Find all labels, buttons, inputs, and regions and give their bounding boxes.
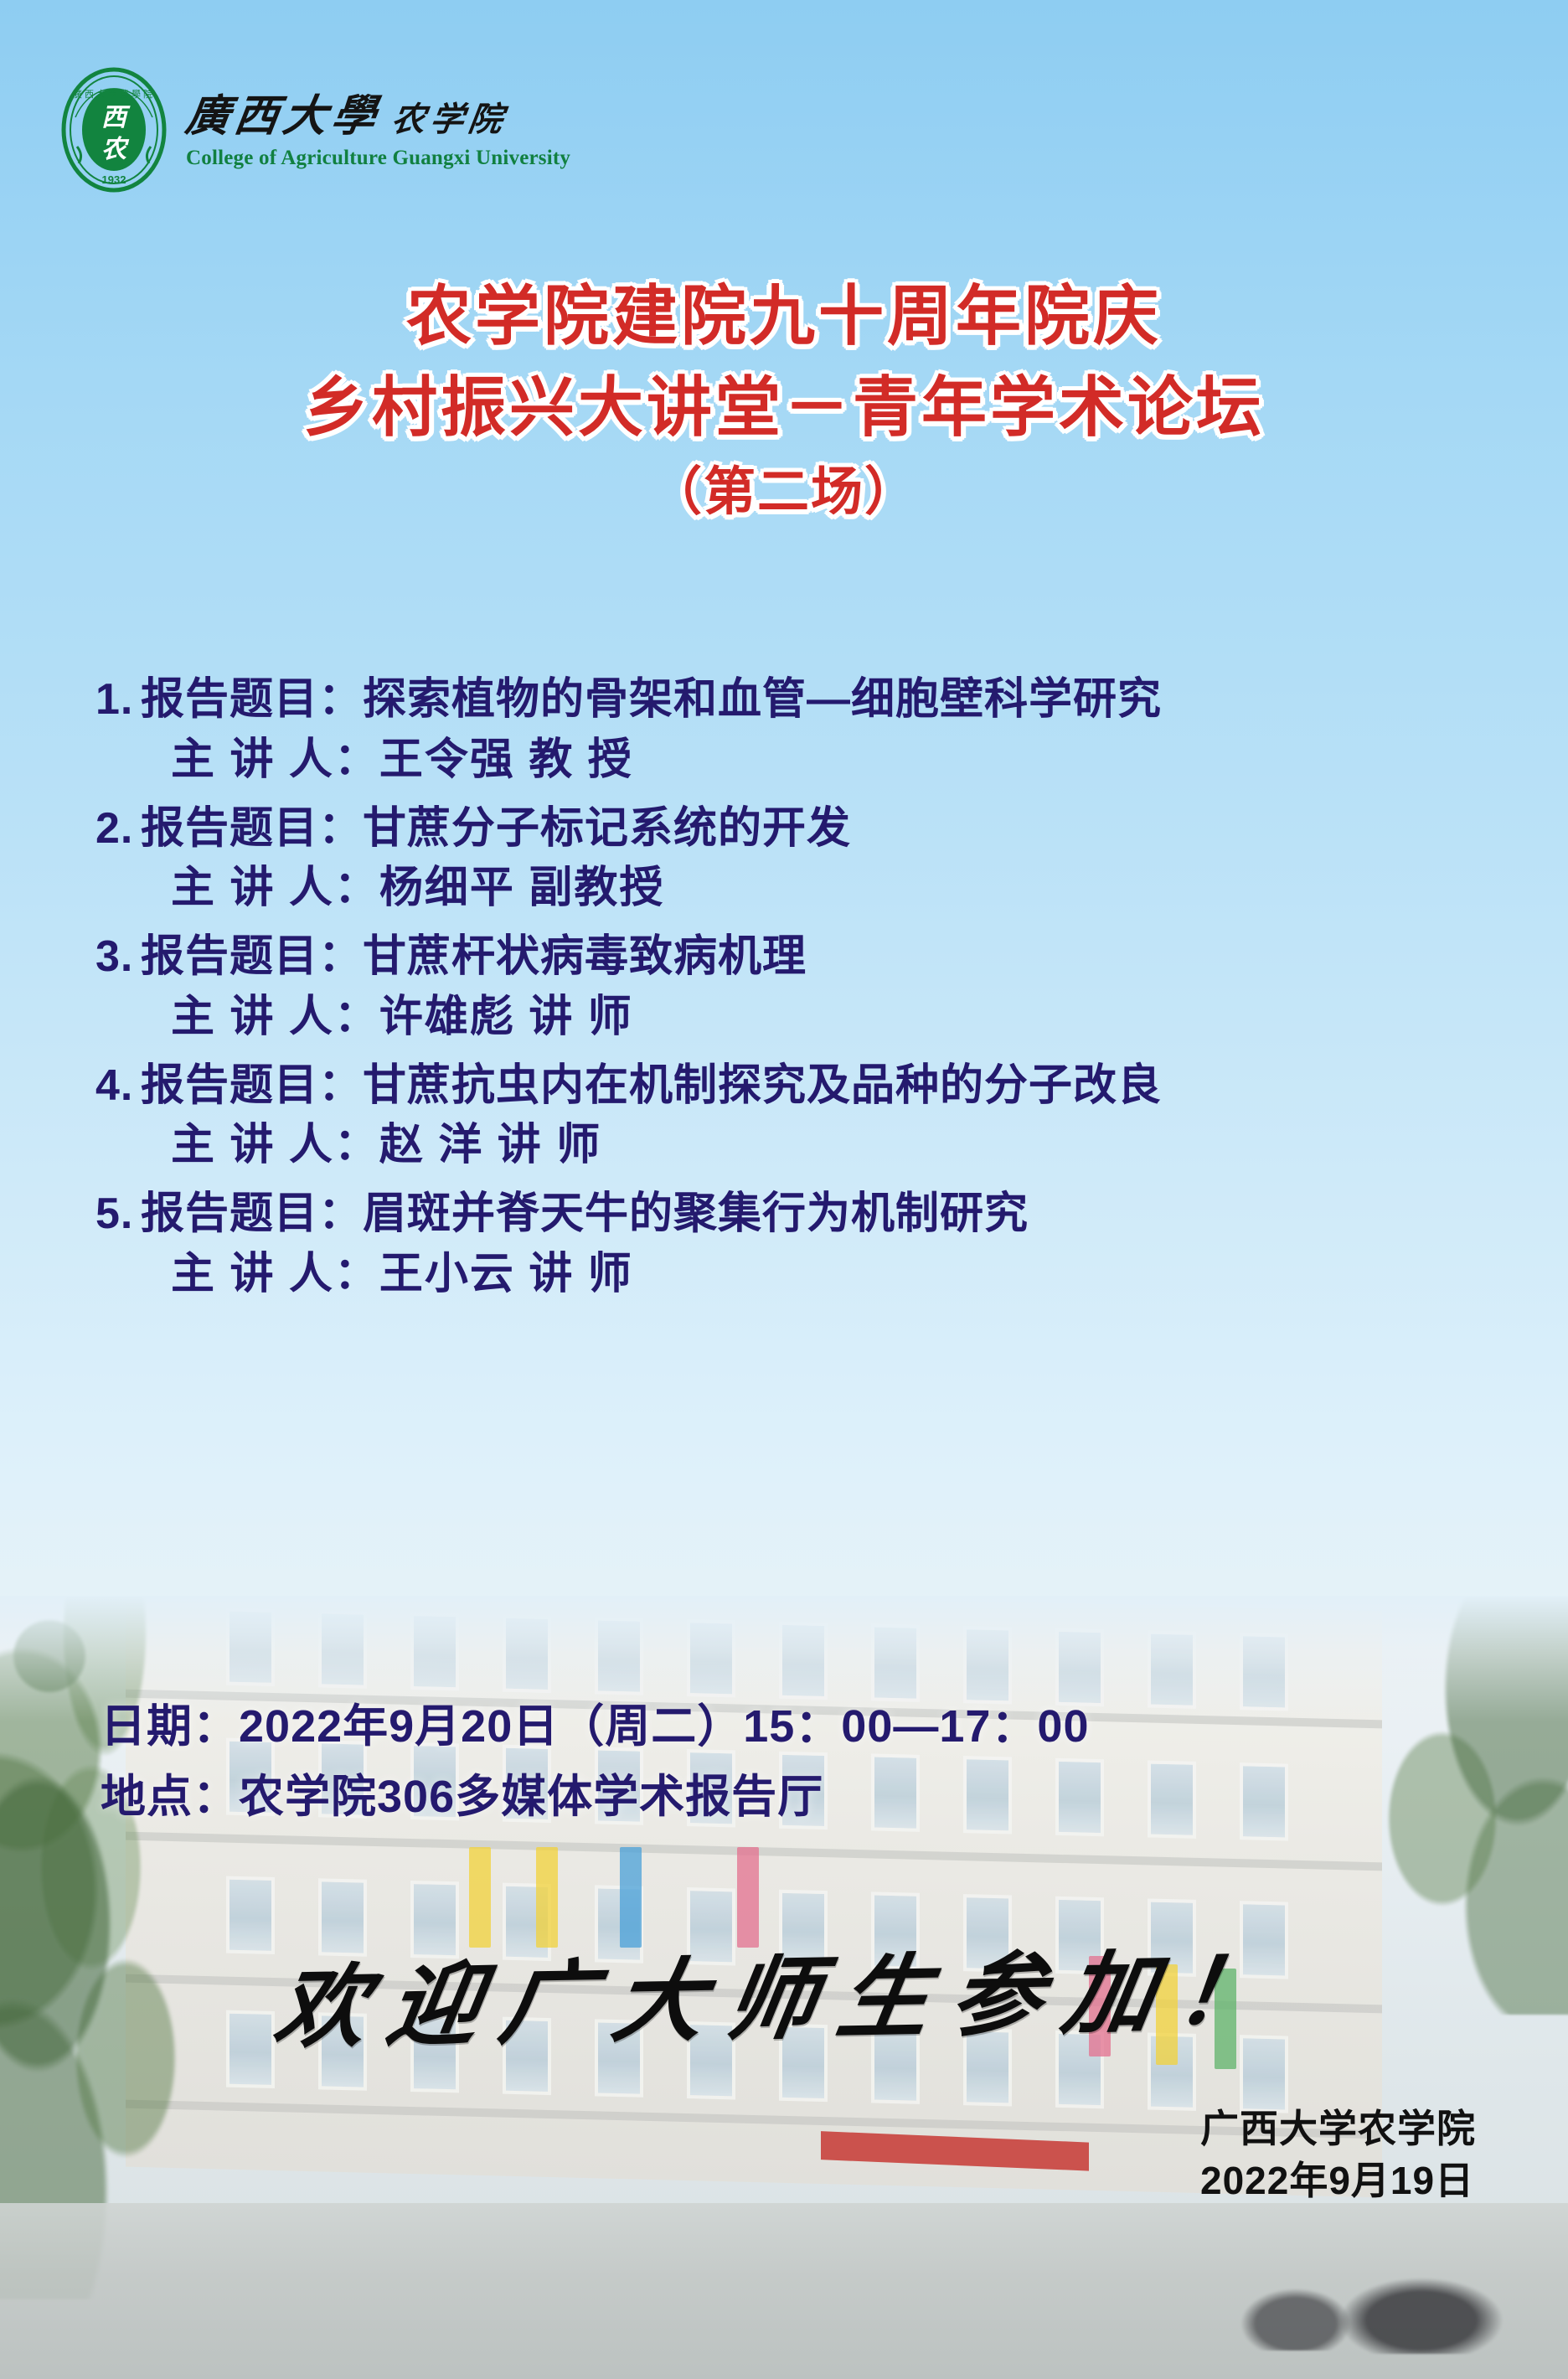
list-item: 4.报告题目：甘蔗抗虫内在机制探究及品种的分子改良 主 讲 人：赵 洋 讲 师	[87, 1056, 1511, 1177]
poster-header: 西 农 廣西大學農學院 1932 廣西大學农学院 College of Agri…	[60, 67, 570, 193]
building-banner	[821, 2131, 1089, 2170]
title-line-3-session: （第二场）	[0, 461, 1568, 524]
motorcycle-right-2	[1233, 2284, 1359, 2351]
brand-college: 农学院	[389, 101, 510, 138]
poster-signature: 广西大学农学院 2022年9月19日	[1200, 2103, 1476, 2206]
poster-title-block: 农学院建院九十周年院庆 乡村振兴大讲堂－青年学术论坛 （第二场）	[0, 276, 1568, 524]
topic-text: 甘蔗抗虫内在机制探究及品种的分子改良	[363, 1061, 1162, 1110]
seal-icon: 西 农 廣西大學農學院 1932	[60, 67, 168, 193]
program-speaker-row: 主 讲 人：王小云 讲 师	[87, 1245, 1511, 1305]
item-number: 2.	[95, 799, 141, 859]
list-item: 1.报告题目：探索植物的骨架和血管—细胞壁科学研究 主 讲 人：王令强 教 授	[87, 670, 1511, 791]
brand-english-name: College of Agriculture Guangxi Universit…	[186, 147, 570, 170]
brand-text-block: 廣西大學农学院 College of Agriculture Guangxi U…	[186, 90, 570, 171]
speaker-label: 主 讲 人：	[171, 735, 379, 784]
signature-date: 2022年9月19日	[1200, 2155, 1476, 2206]
item-number: 1.	[95, 670, 141, 730]
program-speaker-row: 主 讲 人：许雄彪 讲 师	[87, 988, 1511, 1048]
brand-chinese-name: 廣西大學农学院	[183, 95, 574, 141]
item-number: 3.	[95, 927, 141, 988]
program-topic-row: 5.报告题目：眉斑并脊天牛的聚集行为机制研究	[87, 1184, 1511, 1245]
svg-text:农: 农	[101, 136, 130, 163]
speaker-label: 主 讲 人：	[171, 1121, 379, 1169]
speaker-label: 主 讲 人：	[171, 993, 379, 1041]
speaker-text: 赵 洋 讲 师	[379, 1121, 601, 1169]
program-topic-row: 1.报告题目：探索植物的骨架和血管—细胞壁科学研究	[87, 670, 1511, 730]
topic-label: 报告题目：	[141, 932, 363, 981]
topic-label: 报告题目：	[141, 1061, 363, 1110]
item-number: 5.	[95, 1184, 141, 1245]
svg-text:西: 西	[101, 104, 131, 132]
list-item: 3.报告题目：甘蔗杆状病毒致病机理 主 讲 人：许雄彪 讲 师	[87, 927, 1511, 1048]
speaker-text: 杨细平 副教授	[379, 864, 664, 912]
speaker-text: 许雄彪 讲 师	[379, 993, 633, 1041]
topic-label: 报告题目：	[141, 804, 363, 853]
event-details: 日期：2022年9月20日（周二）15：00—17：00 地点：农学院306多媒…	[101, 1692, 1089, 1832]
speaker-label: 主 讲 人：	[171, 864, 379, 912]
topic-text: 探索植物的骨架和血管—细胞壁科学研究	[363, 675, 1162, 724]
svg-text:1932: 1932	[102, 173, 126, 186]
program-speaker-row: 主 讲 人：杨细平 副教授	[87, 859, 1511, 919]
university-seal-logo: 西 农 廣西大學農學院 1932	[60, 67, 168, 193]
poster-root: 西 农 廣西大學農學院 1932 廣西大學农学院 College of Agri…	[0, 0, 1568, 2379]
topic-text: 甘蔗分子标记系统的开发	[363, 804, 851, 853]
event-date-line: 日期：2022年9月20日（周二）15：00—17：00	[101, 1692, 1089, 1762]
topic-text: 眉斑并脊天牛的聚集行为机制研究	[363, 1189, 1029, 1238]
list-item: 5.报告题目：眉斑并脊天牛的聚集行为机制研究 主 讲 人：王小云 讲 师	[87, 1184, 1511, 1305]
title-line-1: 农学院建院九十周年院庆	[0, 276, 1568, 356]
program-speaker-row: 主 讲 人：王令强 教 授	[87, 730, 1511, 791]
program-topic-row: 4.报告题目：甘蔗抗虫内在机制探究及品种的分子改良	[87, 1056, 1511, 1117]
brand-university: 廣西大學	[183, 93, 384, 141]
topic-text: 甘蔗杆状病毒致病机理	[363, 932, 807, 981]
signature-org: 广西大学农学院	[1200, 2103, 1476, 2155]
program-speaker-row: 主 讲 人：赵 洋 讲 师	[87, 1116, 1511, 1176]
program-list: 1.报告题目：探索植物的骨架和血管—细胞壁科学研究 主 讲 人：王令强 教 授 …	[87, 670, 1511, 1313]
program-topic-row: 3.报告题目：甘蔗杆状病毒致病机理	[87, 927, 1511, 988]
speaker-label: 主 讲 人：	[171, 1250, 379, 1298]
title-line-2: 乡村振兴大讲堂－青年学术论坛	[0, 368, 1568, 447]
speaker-text: 王令强 教 授	[379, 735, 633, 784]
event-place-line: 地点：农学院306多媒体学术报告厅	[101, 1762, 1089, 1833]
welcome-calligraphy: 欢迎广大师生参加！	[0, 1913, 1568, 2072]
topic-label: 报告题目：	[141, 1189, 363, 1238]
program-topic-row: 2.报告题目：甘蔗分子标记系统的开发	[87, 799, 1511, 859]
topic-label: 报告题目：	[141, 675, 363, 724]
svg-text:廣西大學農學院: 廣西大學農學院	[73, 88, 155, 100]
item-number: 4.	[95, 1056, 141, 1117]
list-item: 2.报告题目：甘蔗分子标记系统的开发 主 讲 人：杨细平 副教授	[87, 799, 1511, 920]
speaker-text: 王小云 讲 师	[379, 1250, 633, 1298]
